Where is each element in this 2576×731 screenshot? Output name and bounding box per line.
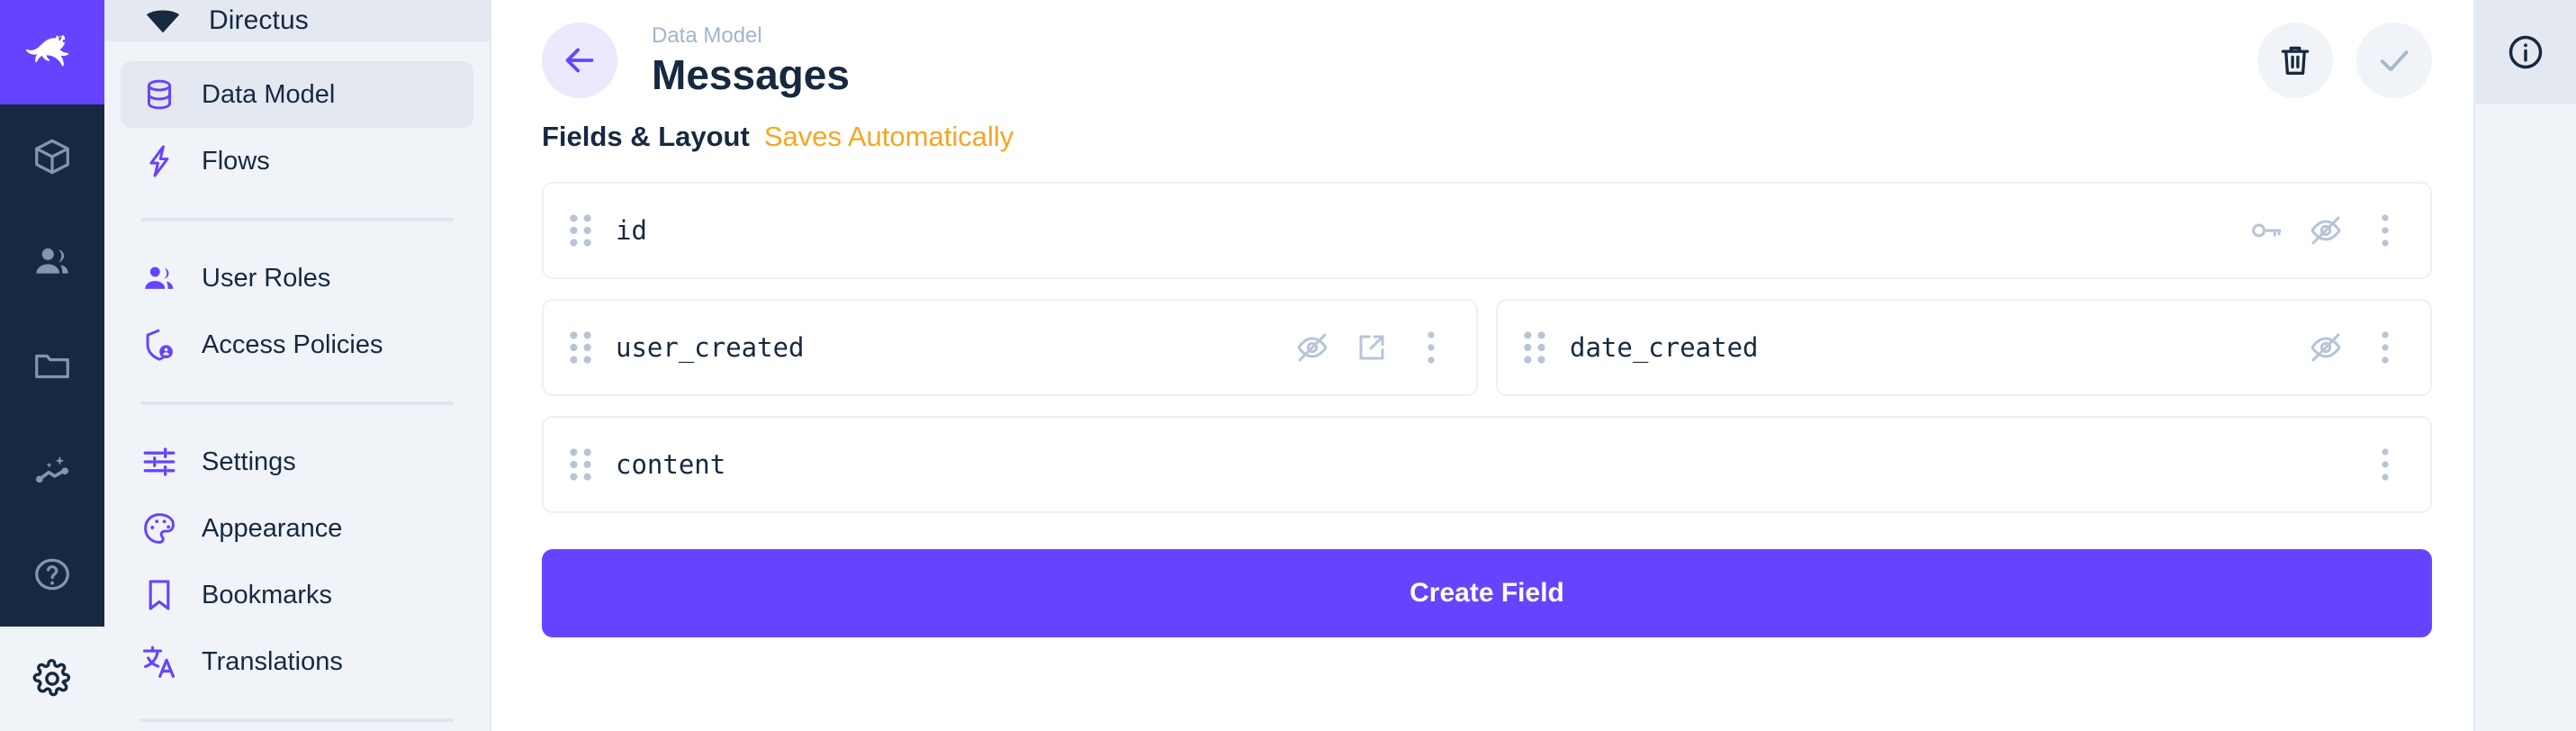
sidebar-item-label: Flows — [202, 147, 270, 176]
drag-handle-icon[interactable] — [567, 213, 594, 248]
sidebar-divider-1 — [140, 218, 454, 221]
sidebar-divider-3 — [140, 718, 454, 722]
info-toggle-button[interactable] — [2475, 0, 2576, 104]
shield-user-icon — [140, 326, 178, 364]
more-vert-icon[interactable] — [2367, 329, 2403, 365]
field-name: content — [616, 449, 725, 480]
delete-button[interactable] — [2257, 23, 2333, 98]
translate-icon — [140, 643, 178, 681]
field-card-date-created[interactable]: date_created — [1496, 299, 2432, 396]
sidebar-item-access-policies[interactable]: Access Policies — [121, 311, 473, 378]
breadcrumb[interactable]: Data Model — [652, 22, 850, 50]
sidebar-divider-2 — [140, 402, 454, 405]
main-header: Data Model Messages — [491, 0, 2473, 121]
nav-sidebar: Directus Data Model — [104, 0, 491, 731]
back-button[interactable] — [542, 23, 617, 98]
main-content: Data Model Messages Fields — [491, 0, 2473, 731]
app-root: Directus Data Model — [0, 0, 2576, 731]
project-header[interactable]: Directus — [104, 0, 490, 41]
drag-handle-icon[interactable] — [1521, 330, 1548, 365]
field-actions — [2248, 212, 2403, 248]
check-icon — [2374, 41, 2414, 80]
sidebar-item-label: Translations — [202, 647, 343, 677]
field-name: date_created — [1570, 332, 1759, 363]
field-card-user-created[interactable]: user_created — [542, 299, 1478, 396]
project-name: Directus — [209, 5, 309, 36]
right-sidebar — [2473, 0, 2576, 731]
more-vert-icon[interactable] — [2367, 212, 2403, 248]
sidebar-item-flows[interactable]: Flows — [121, 128, 473, 194]
open-in-new-icon[interactable] — [1354, 329, 1390, 365]
sidebar-item-user-roles[interactable]: User Roles — [121, 245, 473, 311]
field-actions — [2308, 329, 2403, 365]
title-block: Data Model Messages — [652, 22, 850, 99]
eye-off-icon[interactable] — [2308, 212, 2344, 248]
sidebar-item-settings[interactable]: Settings — [121, 429, 473, 495]
palette-icon — [140, 510, 178, 547]
key-icon[interactable] — [2248, 212, 2284, 248]
info-icon — [2506, 32, 2545, 72]
directus-rabbit-logo-icon[interactable] — [0, 0, 104, 104]
eye-off-icon[interactable] — [2308, 329, 2344, 365]
trash-icon — [2275, 41, 2315, 80]
module-item-files[interactable] — [0, 313, 104, 418]
field-name: id — [616, 215, 647, 246]
main-body: Fields & Layout Saves Automatically id — [491, 121, 2473, 731]
header-actions — [2257, 23, 2432, 98]
section-header: Fields & Layout Saves Automatically — [542, 121, 2432, 153]
module-item-settings[interactable] — [0, 627, 104, 731]
sidebar-item-label: Access Policies — [202, 330, 383, 360]
section-title: Fields & Layout — [542, 121, 750, 153]
directus-cone-logo-icon — [142, 0, 184, 41]
sidebar-item-appearance[interactable]: Appearance — [121, 495, 473, 562]
field-actions — [2367, 447, 2403, 483]
database-icon — [140, 76, 178, 113]
sidebar-item-label: Data Model — [202, 80, 335, 110]
field-name: user_created — [616, 332, 805, 363]
module-item-content[interactable] — [0, 104, 104, 209]
sidebar-item-label: Bookmarks — [202, 581, 332, 610]
save-button[interactable] — [2356, 23, 2432, 98]
sidebar-item-label: User Roles — [202, 264, 330, 293]
sidebar-item-label: Appearance — [202, 514, 342, 544]
bookmark-icon — [140, 576, 178, 614]
module-item-insights[interactable] — [0, 418, 104, 522]
page-title: Messages — [652, 51, 850, 99]
eye-off-icon[interactable] — [1294, 329, 1330, 365]
nav-list: Data Model Flows — [104, 41, 490, 731]
field-card-content[interactable]: content — [542, 416, 2432, 513]
field-card-id[interactable]: id — [542, 182, 2432, 279]
sidebar-item-label: Settings — [202, 447, 296, 477]
sidebar-item-data-model[interactable]: Data Model — [121, 61, 473, 128]
drag-handle-icon[interactable] — [567, 330, 594, 365]
tune-icon — [140, 443, 178, 481]
module-bar — [0, 0, 104, 731]
more-vert-icon[interactable] — [1413, 329, 1449, 365]
more-vert-icon[interactable] — [2367, 447, 2403, 483]
sidebar-item-bookmarks[interactable]: Bookmarks — [121, 562, 473, 628]
bolt-icon — [140, 142, 178, 180]
arrow-left-icon — [559, 40, 600, 81]
people-icon — [140, 259, 178, 297]
module-item-users[interactable] — [0, 209, 104, 313]
create-field-button[interactable]: Create Field — [542, 549, 2432, 637]
fields-list: id — [542, 182, 2432, 513]
autosave-note: Saves Automatically — [764, 121, 1013, 153]
sidebar-item-translations[interactable]: Translations — [121, 628, 473, 695]
drag-handle-icon[interactable] — [567, 447, 594, 482]
module-item-help[interactable] — [0, 522, 104, 627]
field-actions — [1294, 329, 1449, 365]
